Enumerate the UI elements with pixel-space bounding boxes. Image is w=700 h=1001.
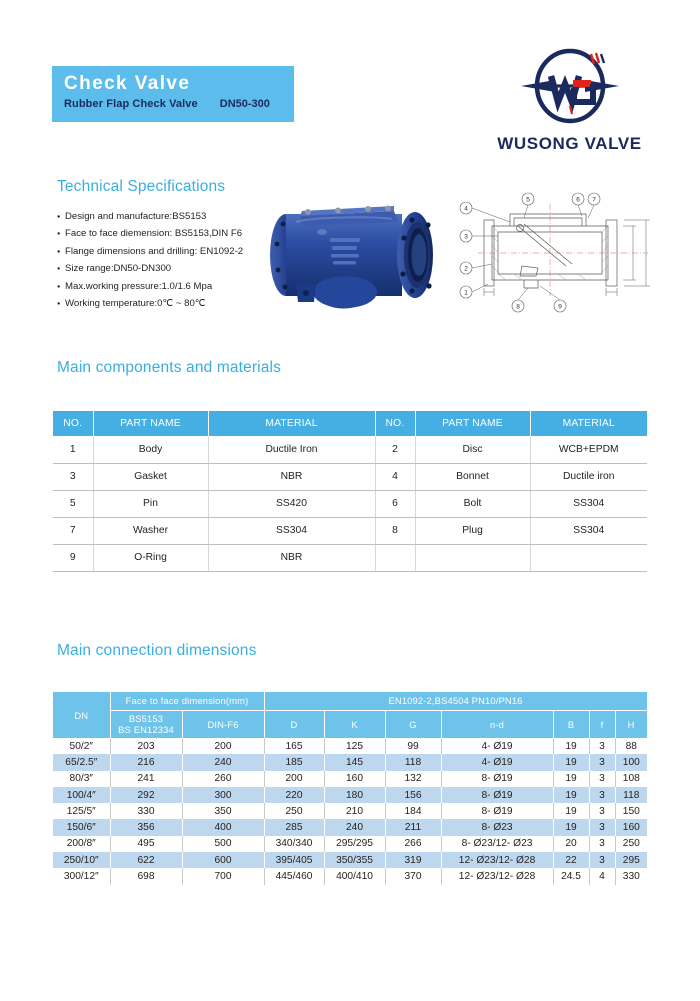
cell-d: 165	[264, 738, 324, 754]
cell-material: Ductile iron	[530, 463, 647, 490]
cell-dn: 200/8″	[53, 836, 110, 852]
cell-f: 3	[589, 738, 615, 754]
cell-part-name	[415, 544, 530, 571]
cell-f: 3	[589, 819, 615, 835]
svg-text:2: 2	[464, 265, 468, 272]
cell-no	[375, 544, 415, 571]
cell-f: 3	[589, 852, 615, 868]
cell-g: 156	[385, 787, 441, 803]
cell-b: 22	[553, 852, 589, 868]
cell-d: 395/405	[264, 852, 324, 868]
cell-g: 211	[385, 819, 441, 835]
svg-text:1: 1	[464, 289, 468, 296]
cell-d: 285	[264, 819, 324, 835]
cell-b: 19	[553, 738, 589, 754]
spec-item: Design and manufacture:BS5153	[57, 208, 272, 225]
bs5153-line2: BS EN12334	[113, 724, 180, 735]
column-header-h: H	[615, 710, 647, 738]
table-row: 100/4″ 292 300 220 180 156 8- Ø19 19 3 1…	[53, 787, 647, 803]
column-header-d: D	[264, 710, 324, 738]
table-row: 3 Gasket NBR 4 Bonnet Ductile iron	[53, 463, 647, 490]
cell-g: 370	[385, 868, 441, 884]
column-group-standard: EN1092-2,BS4504 PN10/PN16	[264, 692, 647, 710]
cell-h: 295	[615, 852, 647, 868]
bs5153-line1: BS5153	[113, 713, 180, 724]
spec-item: Face to face diemension: BS5153,DIN F6	[57, 225, 272, 242]
cell-bs5153: 622	[110, 852, 182, 868]
cell-h: 330	[615, 868, 647, 884]
table-row: 9 O-Ring NBR	[53, 544, 647, 571]
cell-h: 108	[615, 771, 647, 787]
cell-dn: 80/3″	[53, 771, 110, 787]
column-header-material-left: MATERIAL	[208, 411, 375, 436]
cell-dn: 100/4″	[53, 787, 110, 803]
cell-f: 3	[589, 836, 615, 852]
table-row: 200/8″ 495 500 340/340 295/295 266 8- Ø2…	[53, 836, 647, 852]
cell-h: 118	[615, 787, 647, 803]
cell-no: 2	[375, 436, 415, 463]
cell-part-name: Gasket	[93, 463, 208, 490]
cell-din-f6: 300	[182, 787, 264, 803]
cell-part-name: Plug	[415, 517, 530, 544]
cell-d: 220	[264, 787, 324, 803]
table-row: 7 Washer SS304 8 Plug SS304	[53, 517, 647, 544]
table-row: 80/3″ 241 260 200 160 132 8- Ø19 19 3 10…	[53, 771, 647, 787]
cell-material: SS304	[208, 517, 375, 544]
cell-k: 160	[324, 771, 385, 787]
column-header-din-f6: DIN-F6	[182, 710, 264, 738]
cell-k: 180	[324, 787, 385, 803]
cell-material: NBR	[208, 463, 375, 490]
cell-g: 319	[385, 852, 441, 868]
cell-dn: 150/6″	[53, 819, 110, 835]
column-header-dn: DN	[53, 692, 110, 738]
cell-din-f6: 350	[182, 803, 264, 819]
specifications-list: Design and manufacture:BS5153 Face to fa…	[57, 208, 272, 312]
cell-bs5153: 216	[110, 754, 182, 770]
svg-text:4: 4	[464, 205, 468, 212]
cell-b: 19	[553, 754, 589, 770]
components-materials-table: NO. PART NAME MATERIAL NO. PART NAME MAT…	[53, 411, 647, 572]
cell-g: 132	[385, 771, 441, 787]
cell-k: 350/355	[324, 852, 385, 868]
svg-text:7: 7	[592, 196, 596, 203]
cell-bs5153: 495	[110, 836, 182, 852]
svg-text:6: 6	[576, 196, 580, 203]
column-header-n-d: n-d	[441, 710, 553, 738]
cell-bs5153: 698	[110, 868, 182, 884]
table-header-row-top: DN Face to face dimension(mm) EN1092-2,B…	[53, 692, 647, 710]
cell-bs5153: 241	[110, 771, 182, 787]
cell-dn: 125/5″	[53, 803, 110, 819]
column-group-face-to-face: Face to face dimension(mm)	[110, 692, 264, 710]
cell-din-f6: 600	[182, 852, 264, 868]
cell-b: 19	[553, 819, 589, 835]
cell-h: 88	[615, 738, 647, 754]
column-header-f: f	[589, 710, 615, 738]
section-heading-specifications: Technical Specifications	[57, 178, 225, 196]
table-row: 5 Pin SS420 6 Bolt SS304	[53, 490, 647, 517]
table-row: 1 Body Ductile Iron 2 Disc WCB+EPDM	[53, 436, 647, 463]
cell-k: 145	[324, 754, 385, 770]
cell-material: NBR	[208, 544, 375, 571]
spec-item: Working temperature:0℃ ~ 80℃	[57, 295, 272, 312]
cell-material: SS420	[208, 490, 375, 517]
cell-part-name: Washer	[93, 517, 208, 544]
column-header-no-right: NO.	[375, 411, 415, 436]
cell-d: 340/340	[264, 836, 324, 852]
cell-no: 6	[375, 490, 415, 517]
cell-h: 160	[615, 819, 647, 835]
cell-b: 19	[553, 771, 589, 787]
cell-h: 150	[615, 803, 647, 819]
table-row: 150/6″ 356 400 285 240 211 8- Ø23 19 3 1…	[53, 819, 647, 835]
cell-material: SS304	[530, 517, 647, 544]
size-range-label: DN50-300	[220, 98, 270, 110]
cell-part-name: Body	[93, 436, 208, 463]
title-subtitle-row: Rubber Flap Check Valve DN50-300	[64, 98, 294, 110]
cell-n-d: 12- Ø23/12- Ø28	[441, 852, 553, 868]
cell-d: 200	[264, 771, 324, 787]
svg-text:9: 9	[558, 303, 562, 310]
cell-part-name: Bonnet	[415, 463, 530, 490]
section-heading-dimensions: Main connection dimensions	[57, 642, 256, 660]
title-banner: Check Valve Rubber Flap Check Valve DN50…	[52, 66, 294, 122]
cell-material	[530, 544, 647, 571]
cell-k: 210	[324, 803, 385, 819]
table-header-row: NO. PART NAME MATERIAL NO. PART NAME MAT…	[53, 411, 647, 436]
table-row: 50/2″ 203 200 165 125 99 4- Ø19 19 3 88	[53, 738, 647, 754]
cell-k: 240	[324, 819, 385, 835]
cell-din-f6: 260	[182, 771, 264, 787]
table-row: 65/2.5″ 216 240 185 145 118 4- Ø19 19 3 …	[53, 754, 647, 770]
page-header: Check Valve Rubber Flap Check Valve DN50…	[0, 0, 700, 170]
column-header-g: G	[385, 710, 441, 738]
cell-f: 3	[589, 771, 615, 787]
cell-din-f6: 700	[182, 868, 264, 884]
column-header-part-name-left: PART NAME	[93, 411, 208, 436]
table-header-row-sub: BS5153 BS EN12334 DIN-F6 D K G n-d B f H	[53, 710, 647, 738]
cell-bs5153: 330	[110, 803, 182, 819]
table-row: 250/10″ 622 600 395/405 350/355 319 12- …	[53, 852, 647, 868]
svg-text:8: 8	[516, 303, 520, 310]
cell-no: 8	[375, 517, 415, 544]
spec-item: Flange dimensions and drilling: EN1092-2	[57, 243, 272, 260]
cell-din-f6: 400	[182, 819, 264, 835]
cell-f: 3	[589, 754, 615, 770]
section-heading-components: Main components and materials	[57, 359, 281, 377]
cell-part-name: O-Ring	[93, 544, 208, 571]
svg-text:3: 3	[464, 233, 468, 240]
cell-b: 19	[553, 787, 589, 803]
cell-g: 118	[385, 754, 441, 770]
cell-part-name: Pin	[93, 490, 208, 517]
cell-n-d: 12- Ø23/12- Ø28	[441, 868, 553, 884]
cell-material: SS304	[530, 490, 647, 517]
column-header-no-left: NO.	[53, 411, 93, 436]
cell-bs5153: 356	[110, 819, 182, 835]
cell-f: 3	[589, 803, 615, 819]
cell-part-name: Disc	[415, 436, 530, 463]
spec-item: Max.working pressure:1.0/1.6 Mpa	[57, 278, 272, 295]
cell-h: 250	[615, 836, 647, 852]
cell-f: 3	[589, 787, 615, 803]
cell-no: 7	[53, 517, 93, 544]
cell-din-f6: 200	[182, 738, 264, 754]
cell-b: 20	[553, 836, 589, 852]
sectional-drawing: 43 21 56 7 89	[458, 192, 663, 317]
cell-no: 4	[375, 463, 415, 490]
cell-n-d: 8- Ø19	[441, 771, 553, 787]
cell-part-name: Bolt	[415, 490, 530, 517]
cell-g: 99	[385, 738, 441, 754]
cell-h: 100	[615, 754, 647, 770]
column-header-bs5153: BS5153 BS EN12334	[110, 710, 182, 738]
cell-d: 445/460	[264, 868, 324, 884]
column-header-b: B	[553, 710, 589, 738]
page-title: Check Valve	[64, 73, 294, 95]
table-row: 125/5″ 330 350 250 210 184 8- Ø19 19 3 1…	[53, 803, 647, 819]
cell-bs5153: 203	[110, 738, 182, 754]
cell-b: 19	[553, 803, 589, 819]
cell-dn: 65/2.5″	[53, 754, 110, 770]
cell-material: Ductile Iron	[208, 436, 375, 463]
cell-dn: 250/10″	[53, 852, 110, 868]
spec-item: Size range:DN50-DN300	[57, 260, 272, 277]
cell-no: 5	[53, 490, 93, 517]
cell-din-f6: 240	[182, 754, 264, 770]
cell-material: WCB+EPDM	[530, 436, 647, 463]
cell-k: 400/410	[324, 868, 385, 884]
cell-d: 250	[264, 803, 324, 819]
cell-f: 4	[589, 868, 615, 884]
product-photo	[252, 192, 457, 320]
table-row: 300/12″ 698 700 445/460 400/410 370 12- …	[53, 868, 647, 884]
column-header-part-name-right: PART NAME	[415, 411, 530, 436]
cell-no: 3	[53, 463, 93, 490]
cell-bs5153: 292	[110, 787, 182, 803]
cell-k: 125	[324, 738, 385, 754]
cell-no: 1	[53, 436, 93, 463]
cell-no: 9	[53, 544, 93, 571]
cell-n-d: 8- Ø23	[441, 819, 553, 835]
cell-n-d: 8- Ø19	[441, 803, 553, 819]
column-header-material-right: MATERIAL	[530, 411, 647, 436]
logo-mark-icon	[515, 48, 625, 130]
cell-g: 266	[385, 836, 441, 852]
cell-dn: 300/12″	[53, 868, 110, 884]
cell-d: 185	[264, 754, 324, 770]
cell-dn: 50/2″	[53, 738, 110, 754]
cell-n-d: 8- Ø23/12- Ø23	[441, 836, 553, 852]
cell-n-d: 4- Ø19	[441, 738, 553, 754]
cell-k: 295/295	[324, 836, 385, 852]
page-subtitle: Rubber Flap Check Valve	[64, 98, 198, 110]
connection-dimensions-table: DN Face to face dimension(mm) EN1092-2,B…	[53, 692, 648, 885]
svg-text:5: 5	[526, 196, 530, 203]
cell-n-d: 4- Ø19	[441, 754, 553, 770]
cell-b: 24.5	[553, 868, 589, 884]
cell-din-f6: 500	[182, 836, 264, 852]
company-logo: WUSONG VALVE	[487, 48, 652, 154]
cell-g: 184	[385, 803, 441, 819]
column-header-k: K	[324, 710, 385, 738]
company-name: WUSONG VALVE	[487, 134, 652, 154]
cell-n-d: 8- Ø19	[441, 787, 553, 803]
